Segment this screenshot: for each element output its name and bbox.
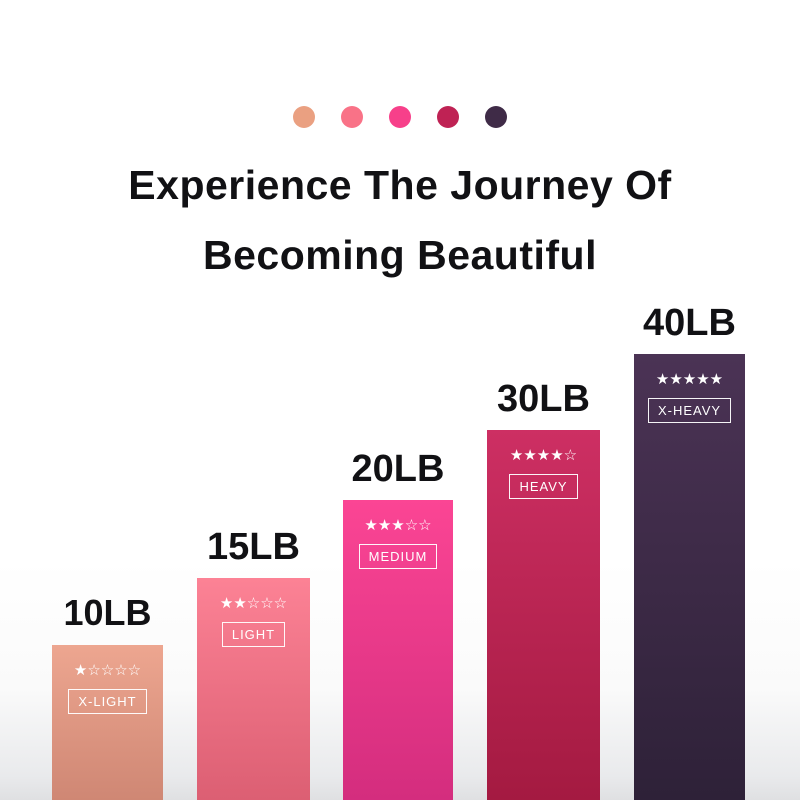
bar-group-x-heavy[interactable]: 40LB★★★★★X-HEAVY	[634, 302, 745, 800]
bar-weight-label-heavy: 30LB	[487, 380, 600, 418]
bar-content-light: ★★☆☆☆LIGHT	[197, 578, 310, 647]
star-rating-medium: ★★★☆☆	[364, 518, 431, 533]
bar-group-light[interactable]: 15LB★★☆☆☆LIGHT	[197, 526, 310, 800]
bar-weight-label-medium: 20LB	[343, 450, 453, 488]
bar-weight-label-light: 15LB	[197, 528, 310, 566]
resistance-bar-chart: 10LB★☆☆☆☆X-LIGHT15LB★★☆☆☆LIGHT20LB★★★☆☆M…	[0, 0, 800, 800]
bar-weight-label-x-heavy: 40LB	[634, 304, 745, 342]
level-badge-medium: MEDIUM	[359, 544, 438, 569]
bar-content-heavy: ★★★★☆HEAVY	[487, 430, 600, 499]
bar-group-x-light[interactable]: 10LB★☆☆☆☆X-LIGHT	[52, 593, 163, 800]
bar-weight-label-x-light: 10LB	[52, 595, 163, 631]
product-infographic: Experience The Journey Of Becoming Beaut…	[0, 0, 800, 800]
level-badge-light: LIGHT	[222, 622, 285, 647]
star-rating-light: ★★☆☆☆	[220, 596, 287, 611]
bar-group-medium[interactable]: 20LB★★★☆☆MEDIUM	[343, 448, 453, 800]
star-rating-heavy: ★★★★☆	[510, 448, 577, 463]
bar-x-light[interactable]: ★☆☆☆☆X-LIGHT	[52, 645, 163, 800]
bar-light[interactable]: ★★☆☆☆LIGHT	[197, 578, 310, 800]
bar-content-medium: ★★★☆☆MEDIUM	[343, 500, 453, 569]
bar-content-x-light: ★☆☆☆☆X-LIGHT	[52, 645, 163, 714]
bar-content-x-heavy: ★★★★★X-HEAVY	[634, 354, 745, 423]
bar-group-heavy[interactable]: 30LB★★★★☆HEAVY	[487, 378, 600, 800]
level-badge-x-light: X-LIGHT	[68, 689, 146, 714]
bar-x-heavy[interactable]: ★★★★★X-HEAVY	[634, 354, 745, 800]
bar-medium[interactable]: ★★★☆☆MEDIUM	[343, 500, 453, 800]
bar-heavy[interactable]: ★★★★☆HEAVY	[487, 430, 600, 800]
level-badge-x-heavy: X-HEAVY	[648, 398, 731, 423]
level-badge-heavy: HEAVY	[509, 474, 577, 499]
star-rating-x-heavy: ★★★★★	[656, 372, 723, 387]
star-rating-x-light: ★☆☆☆☆	[74, 663, 141, 678]
